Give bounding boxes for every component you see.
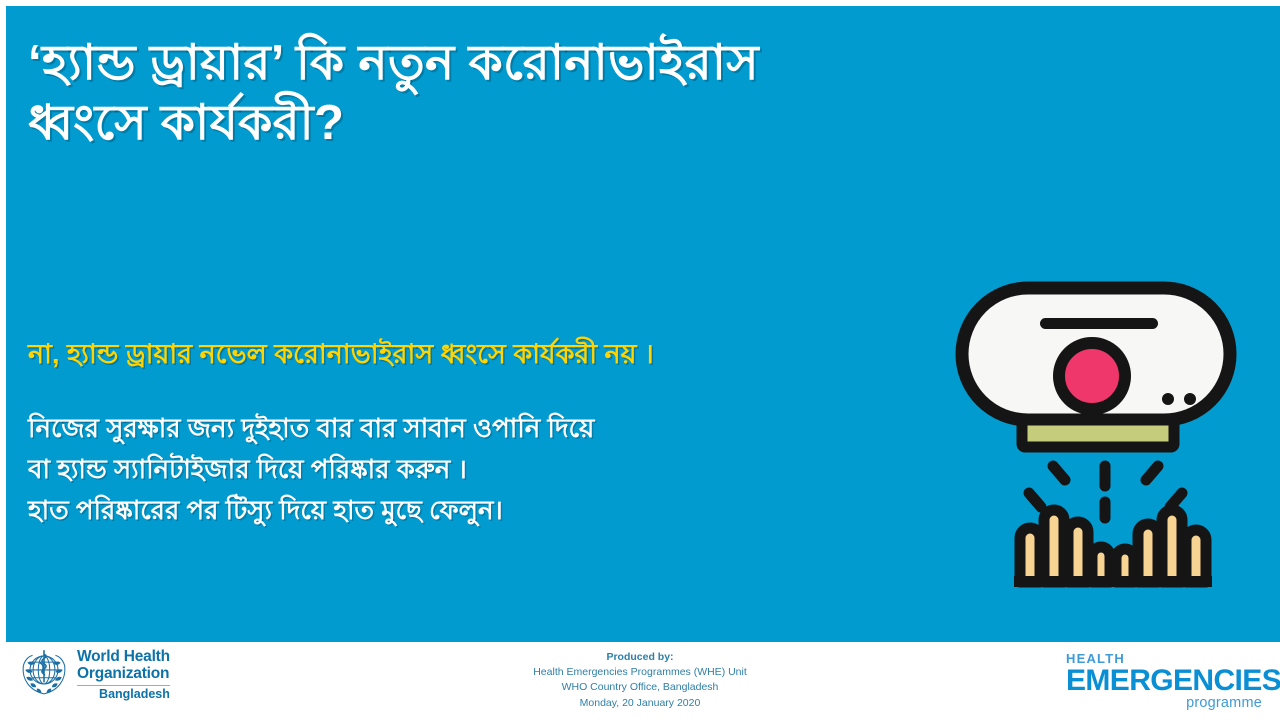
advice-line-2: বা হ্যান্ড স্যানিটাইজার দিয়ে পরিষ্কার ক… [28, 449, 928, 490]
he-line-emergencies: EMERGENCIES [1066, 666, 1262, 696]
page-title: ‘হ্যান্ড ড্রায়ার’ কি নতুন করোনাভাইরাস ধ… [28, 34, 788, 154]
advice-line-1: নিজের সুরক্ষার জন্য দুইহাত বার বার সাবান… [28, 408, 928, 449]
footer-bar: World Health Organization Bangladesh Pro… [0, 642, 1280, 720]
advice-text-block: নিজের সুরক্ষার জন্য দুইহাত বার বার সাবান… [28, 408, 928, 531]
hand-dryer-illustration [940, 270, 1250, 600]
health-emergencies-logo: HEALTH EMERGENCIES programme [1066, 652, 1262, 711]
poster-slide: ‘হ্যান্ড ড্রায়ার’ কি নতুন করোনাভাইরাস ধ… [0, 0, 1280, 720]
he-line-programme: programme [1066, 696, 1262, 711]
answer-statement: না, হ্যান্ড ড্রায়ার নভেল করোনাভাইরাস ধ্… [28, 338, 948, 370]
advice-line-3: হাত পরিষ্কারের পর টিস্যু দিয়ে হাত মুছে … [28, 490, 928, 531]
